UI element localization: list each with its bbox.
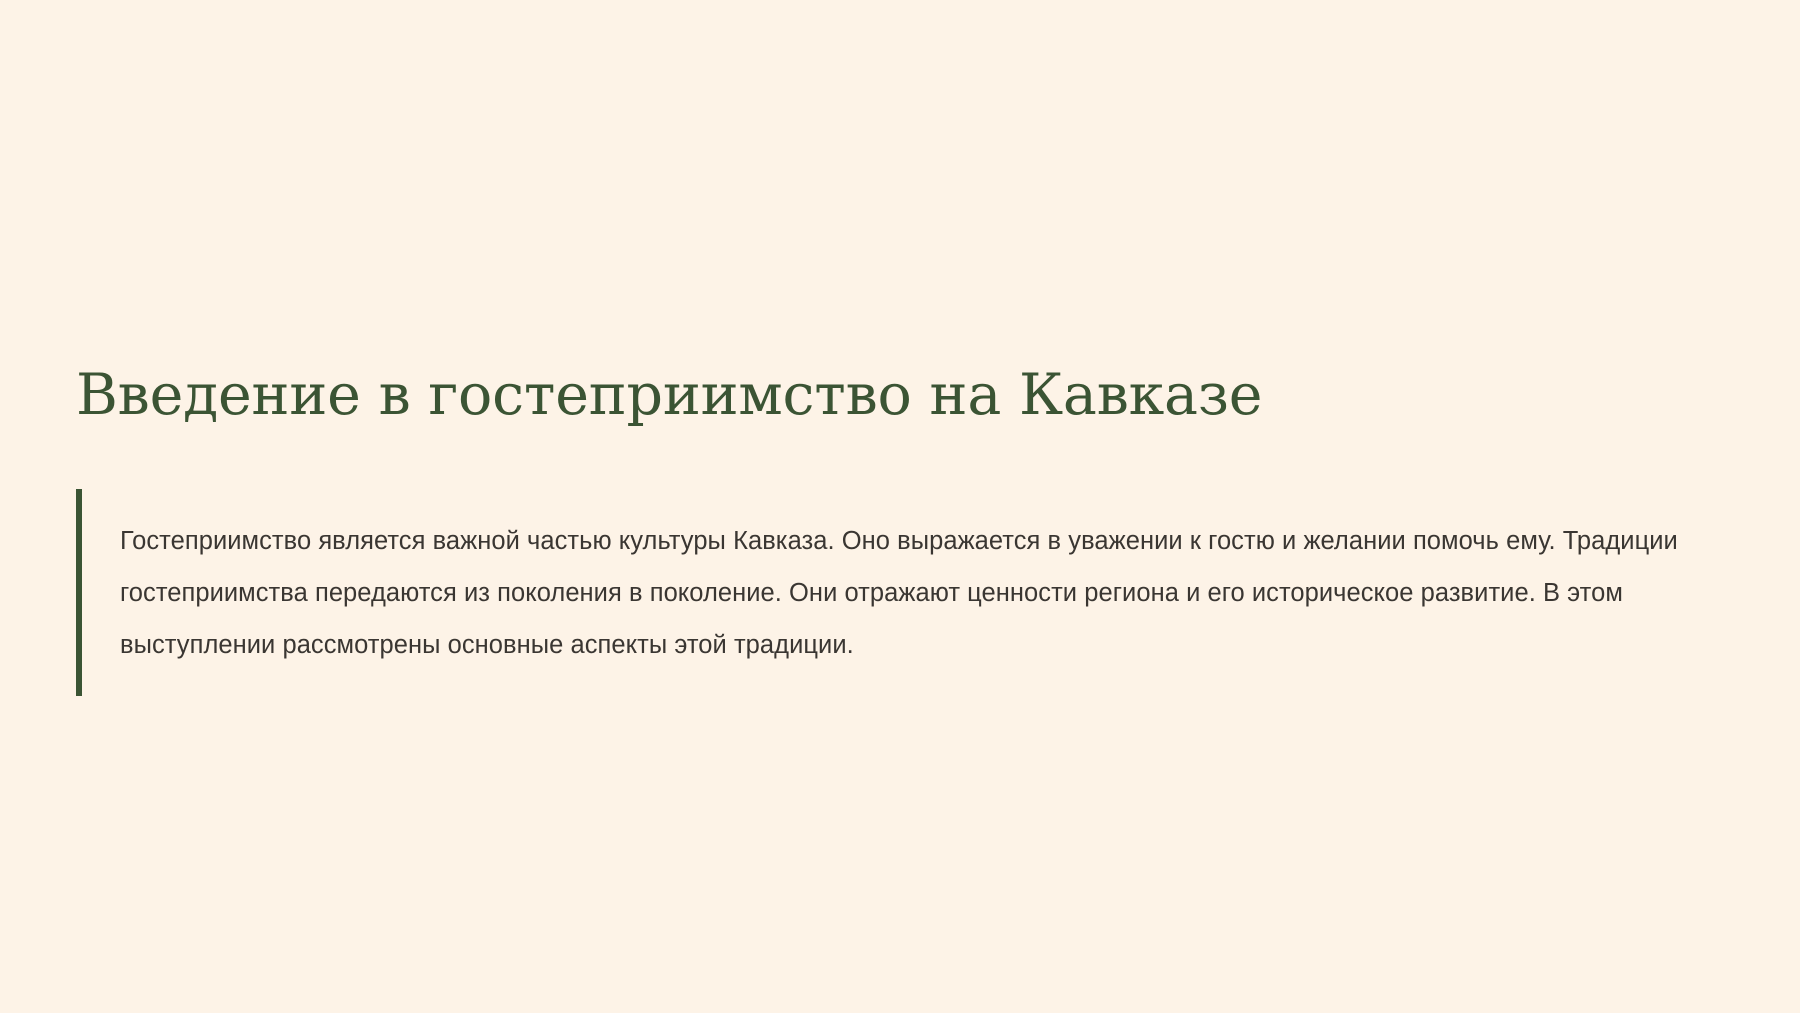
body-paragraph: Гостеприимство является важной частью ку… <box>82 515 1736 671</box>
page-title: Введение в гостеприимство на Кавказе <box>76 362 1716 429</box>
presentation-slide: Введение в гостеприимство на Кавказе Гос… <box>0 0 1800 1013</box>
body-callout-block: Гостеприимство является важной частью ку… <box>76 489 1736 696</box>
